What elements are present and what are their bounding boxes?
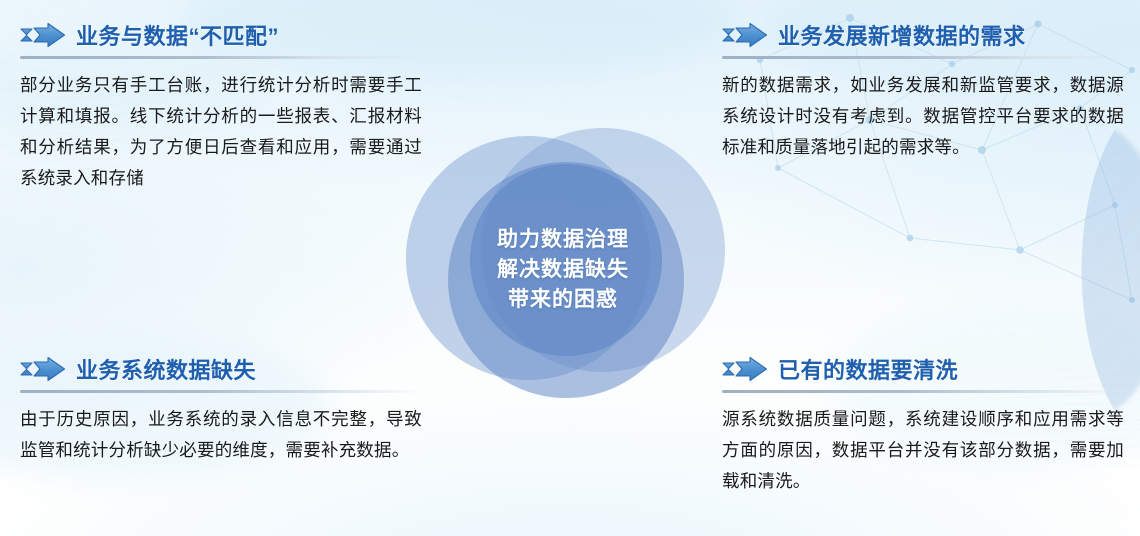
arrow-right-icon <box>20 356 66 382</box>
arrow-right-icon <box>722 22 768 48</box>
center-line-3: 带来的困惑 <box>398 285 728 315</box>
panel-body: 源系统数据质量问题，系统建设顺序和应用需求等方面的原因，数据平台并没有该部分数据… <box>722 404 1124 497</box>
panel-header: 业务系统数据缺失 <box>20 352 422 386</box>
panel-body: 部分业务只有手工台账，进行统计分析时需要手工计算和填报。线下统计分析的一些报表、… <box>20 70 422 194</box>
arrow-right-icon <box>20 22 66 48</box>
panel-divider <box>20 56 422 59</box>
panel-body: 新的数据需求，如业务发展和新监管要求，数据源系统设计时没有考虑到。数据管控平台要… <box>722 70 1124 163</box>
panel-divider <box>20 390 422 393</box>
panel-header: 业务发展新增数据的需求 <box>722 18 1124 52</box>
panel-header: 业务与数据“不匹配” <box>20 18 422 52</box>
panel-new-data-demand: 业务发展新增数据的需求 新的数据需求，如业务发展和新监管要求，数据源系统设计时没… <box>722 18 1124 163</box>
panel-divider <box>722 56 1124 59</box>
panel-business-data-mismatch: 业务与数据“不匹配” 部分业务只有手工台账，进行统计分析时需要手工计算和填报。线… <box>20 18 422 194</box>
panel-business-system-data-missing: 业务系统数据缺失 由于历史原因，业务系统的录入信息不完整，导致监管和统计分析缺少… <box>20 352 422 466</box>
panel-title: 业务发展新增数据的需求 <box>778 19 1026 51</box>
panel-title: 已有的数据要清洗 <box>778 353 958 385</box>
panel-title: 业务系统数据缺失 <box>76 353 256 385</box>
panel-title: 业务与数据“不匹配” <box>76 19 279 51</box>
arrow-right-icon <box>722 356 768 382</box>
panel-divider <box>722 390 1124 393</box>
center-line-1: 助力数据治理 <box>398 225 728 255</box>
infographic-slide: 助力数据治理 解决数据缺失 带来的困惑 业务与数据“不匹配” <box>0 0 1140 536</box>
center-line-2: 解决数据缺失 <box>398 255 728 285</box>
panel-header: 已有的数据要清洗 <box>722 352 1124 386</box>
center-statement: 助力数据治理 解决数据缺失 带来的困惑 <box>398 225 728 315</box>
panel-body: 由于历史原因，业务系统的录入信息不完整，导致监管和统计分析缺少必要的维度，需要补… <box>20 404 422 466</box>
panel-existing-data-cleaning: 已有的数据要清洗 源系统数据质量问题，系统建设顺序和应用需求等方面的原因，数据平… <box>722 352 1124 497</box>
